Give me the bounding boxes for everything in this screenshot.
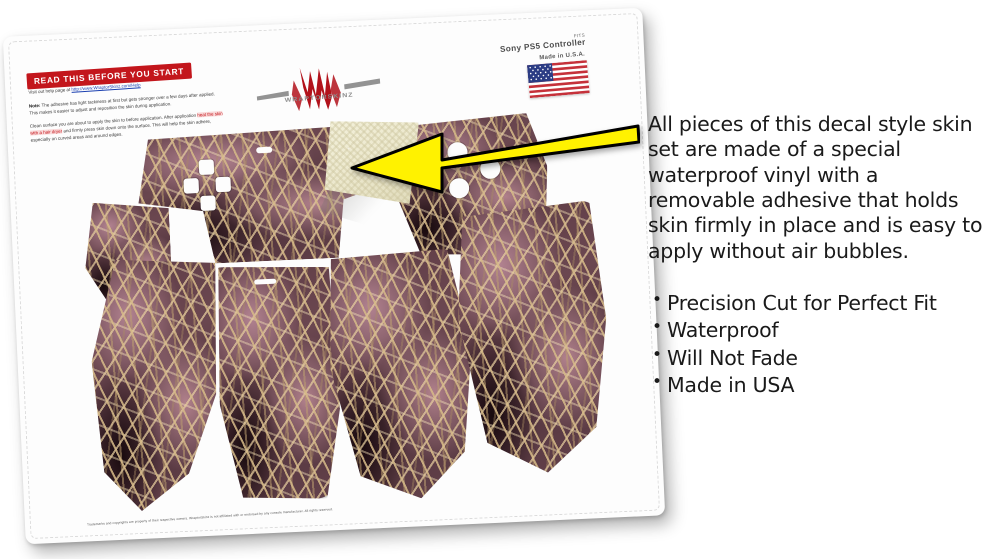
skin-sheet: READ THIS BEFORE YOU START Visit out hel…: [3, 8, 665, 545]
yellow-arrow-icon: [346, 112, 640, 196]
share-button-cutout: [256, 147, 272, 154]
skin-piece-right-grip: [325, 248, 478, 502]
skin-piece-center-panel: [213, 262, 344, 503]
skin-piece-outer-right-grip: [453, 200, 613, 476]
list-item: Made in USA: [648, 372, 988, 399]
dpad-down-cutout: [200, 195, 216, 211]
center-slot-cutout: [254, 279, 276, 285]
dpad-up-cutout: [199, 159, 215, 175]
marketing-paragraph: All pieces of this decal style skin set …: [648, 112, 988, 264]
list-item: Will Not Fade: [648, 345, 988, 372]
feature-list: Precision Cut for Perfect Fit Waterproof…: [648, 290, 988, 400]
marketing-copy: All pieces of this decal style skin set …: [648, 112, 988, 400]
dpad-left-cutout: [183, 178, 199, 194]
dpad-right-cutout: [215, 177, 231, 193]
list-item: Waterproof: [648, 317, 988, 344]
skin-piece-left-grip: [87, 255, 226, 513]
skin-pieces-group: [3, 8, 665, 545]
list-item: Precision Cut for Perfect Fit: [648, 290, 988, 317]
